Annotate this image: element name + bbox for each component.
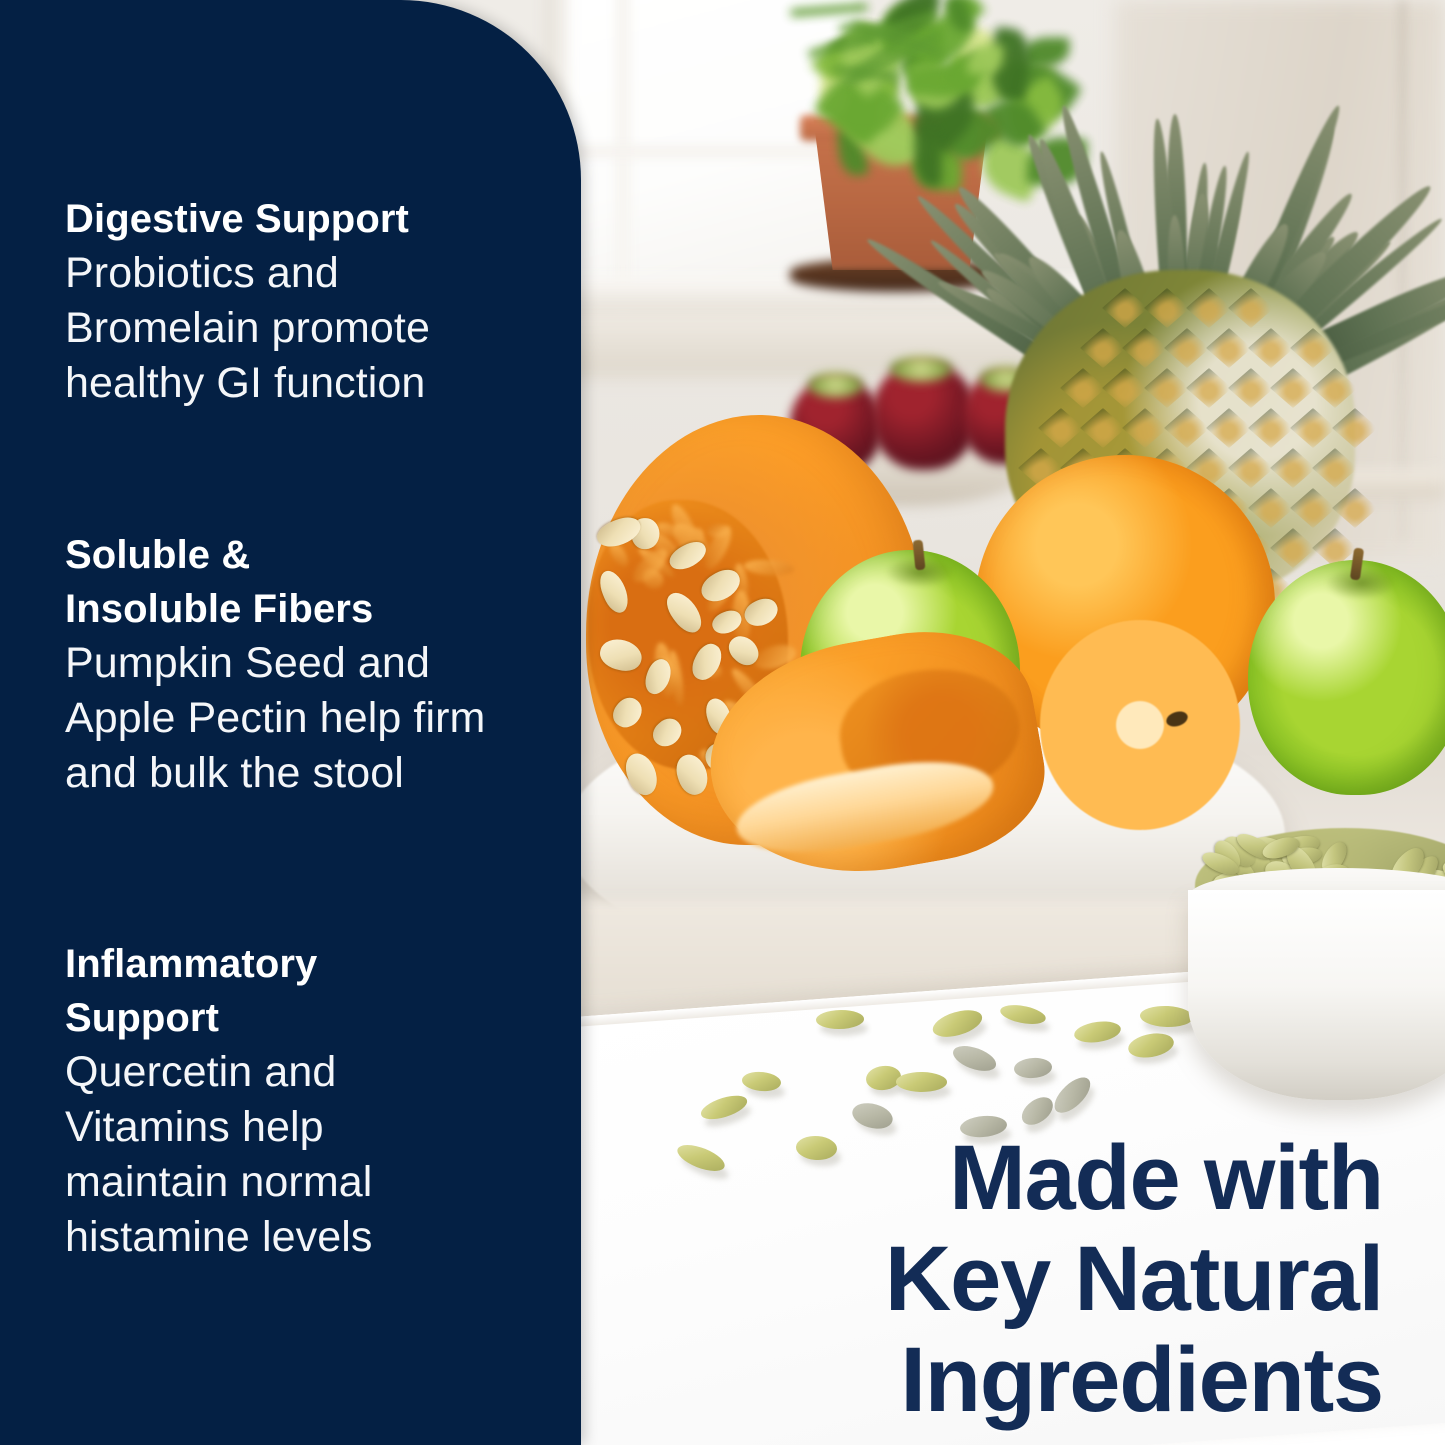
benefit-heading-line: Support <box>65 991 555 1045</box>
headline-line-2: Key Natural <box>683 1229 1383 1330</box>
fruit-calyx <box>808 372 863 398</box>
benefit-heading-line: Soluble & <box>65 528 555 582</box>
benefit-heading: Digestive Support <box>65 192 555 246</box>
benefit-body-line: Pumpkin Seed and <box>65 636 555 691</box>
fruit-calyx <box>890 356 952 382</box>
headline-line-3: Ingredients <box>683 1330 1383 1431</box>
benefit-body-line: Bromelain promote <box>65 301 555 356</box>
benefit-item-digestive-support: Digestive Support Probiotics and Bromela… <box>65 192 555 411</box>
benefit-item-soluble-insoluble-fibers: Soluble & Insoluble Fibers Pumpkin Seed … <box>65 528 555 801</box>
window-mullion-horizontal <box>560 145 860 158</box>
benefit-body-line: Probiotics and <box>65 246 555 301</box>
headline-line-1: Made with <box>683 1128 1383 1229</box>
white-bowl <box>1188 890 1445 1100</box>
benefit-body-line: histamine levels <box>65 1210 555 1265</box>
benefit-heading-line: Insoluble Fibers <box>65 582 555 636</box>
wall-groove <box>1400 0 1405 540</box>
benefit-body-line: healthy GI function <box>65 356 555 411</box>
infographic-canvas: Made with Key Natural Ingredients Digest… <box>0 0 1445 1445</box>
benefits-panel: Digestive Support Probiotics and Bromela… <box>0 0 581 1445</box>
benefit-body-line: Quercetin and <box>65 1045 555 1100</box>
benefit-body-line: and bulk the stool <box>65 746 555 801</box>
orange-half-cut-face <box>1040 620 1240 830</box>
benefit-heading-line: Inflammatory <box>65 937 555 991</box>
benefit-body-line: Vitamins help <box>65 1100 555 1155</box>
benefit-body-line: Apple Pectin help firm <box>65 691 555 746</box>
headline: Made with Key Natural Ingredients <box>683 1128 1383 1431</box>
benefit-body-line: maintain normal <box>65 1155 555 1210</box>
benefit-item-inflammatory-support: Inflammatory Support Quercetin and Vitam… <box>65 937 555 1265</box>
